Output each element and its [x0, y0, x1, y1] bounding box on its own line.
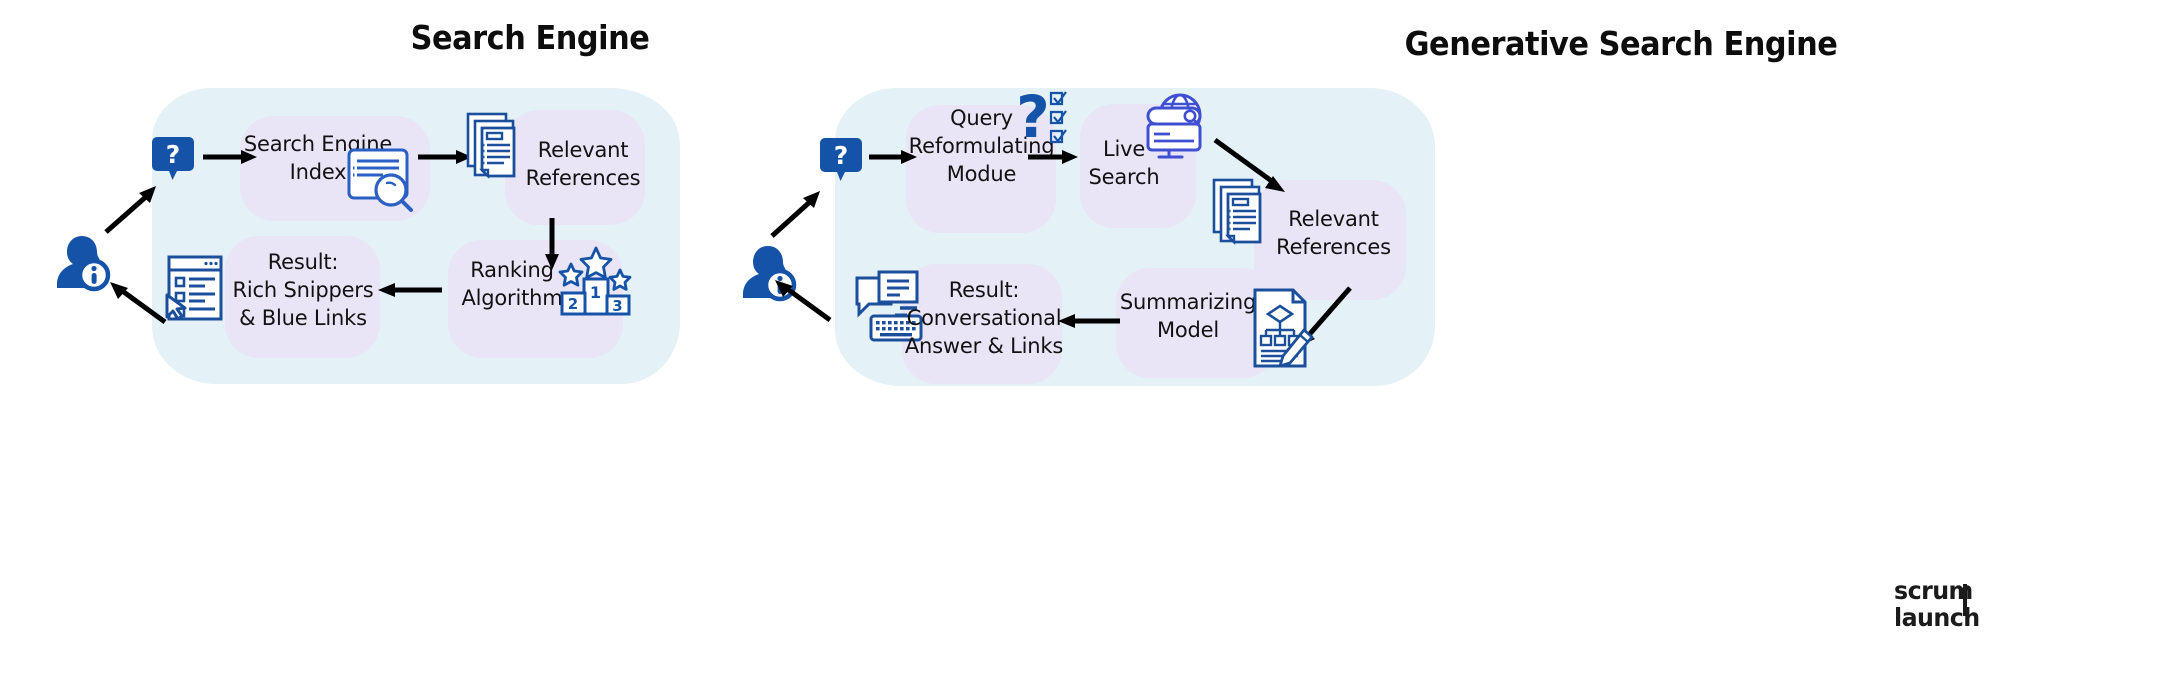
svg-text:3: 3 — [612, 297, 622, 315]
page-title-generative-search-engine: Generative Search Engine — [1105, 24, 2137, 63]
logo-line-scrum: scrum — [1894, 578, 1973, 603]
arrow-user-to-question-generative — [770, 186, 826, 238]
logo-line-launch: launch — [1894, 605, 1980, 630]
arrow-ranking-to-result — [378, 281, 442, 299]
documents-stack-icon — [466, 112, 526, 190]
step-label-summarizing-model: Summarizing Model — [1118, 288, 1258, 344]
brand-logo-scrumlaunch: scrum launch — [1894, 578, 2074, 648]
question-bubble-icon: ? — [152, 135, 194, 185]
svg-text:?: ? — [834, 141, 849, 170]
step-label-relevant-references-generative: Relevant References — [1266, 205, 1401, 261]
document-flowchart-pencil-icon — [1252, 288, 1316, 368]
svg-text:?: ? — [1016, 83, 1050, 151]
svg-text:2: 2 — [568, 295, 578, 313]
step-label-result-conversational: Result: Conversational Answer & Links — [900, 276, 1068, 360]
arrow-user-to-question — [104, 182, 162, 234]
svg-text:1: 1 — [590, 283, 601, 302]
panel-generative-search-engine: Generative Search Engine ? — [1060, 0, 2182, 678]
step-label-result-rich-snippets: Result: Rich Snippers & Blue Links — [227, 248, 379, 332]
question-bubble-icon-generative: ? — [820, 136, 862, 186]
step-label-relevant-references: Relevant References — [520, 136, 646, 192]
browser-results-cursor-icon — [165, 255, 223, 321]
svg-text:?: ? — [166, 140, 181, 169]
page-title-search-engine: Search Engine — [42, 18, 1017, 57]
arrow-result-to-user-generative — [770, 276, 832, 324]
documents-stack-icon-generative — [1212, 178, 1272, 256]
browser-search-icon — [347, 148, 415, 214]
arrow-result-to-user — [105, 278, 167, 326]
globe-monitor-search-icon — [1142, 90, 1214, 162]
podium-stars-icon: 1 2 3 — [554, 246, 632, 318]
arrow-query-module-to-live-search — [1028, 148, 1080, 166]
